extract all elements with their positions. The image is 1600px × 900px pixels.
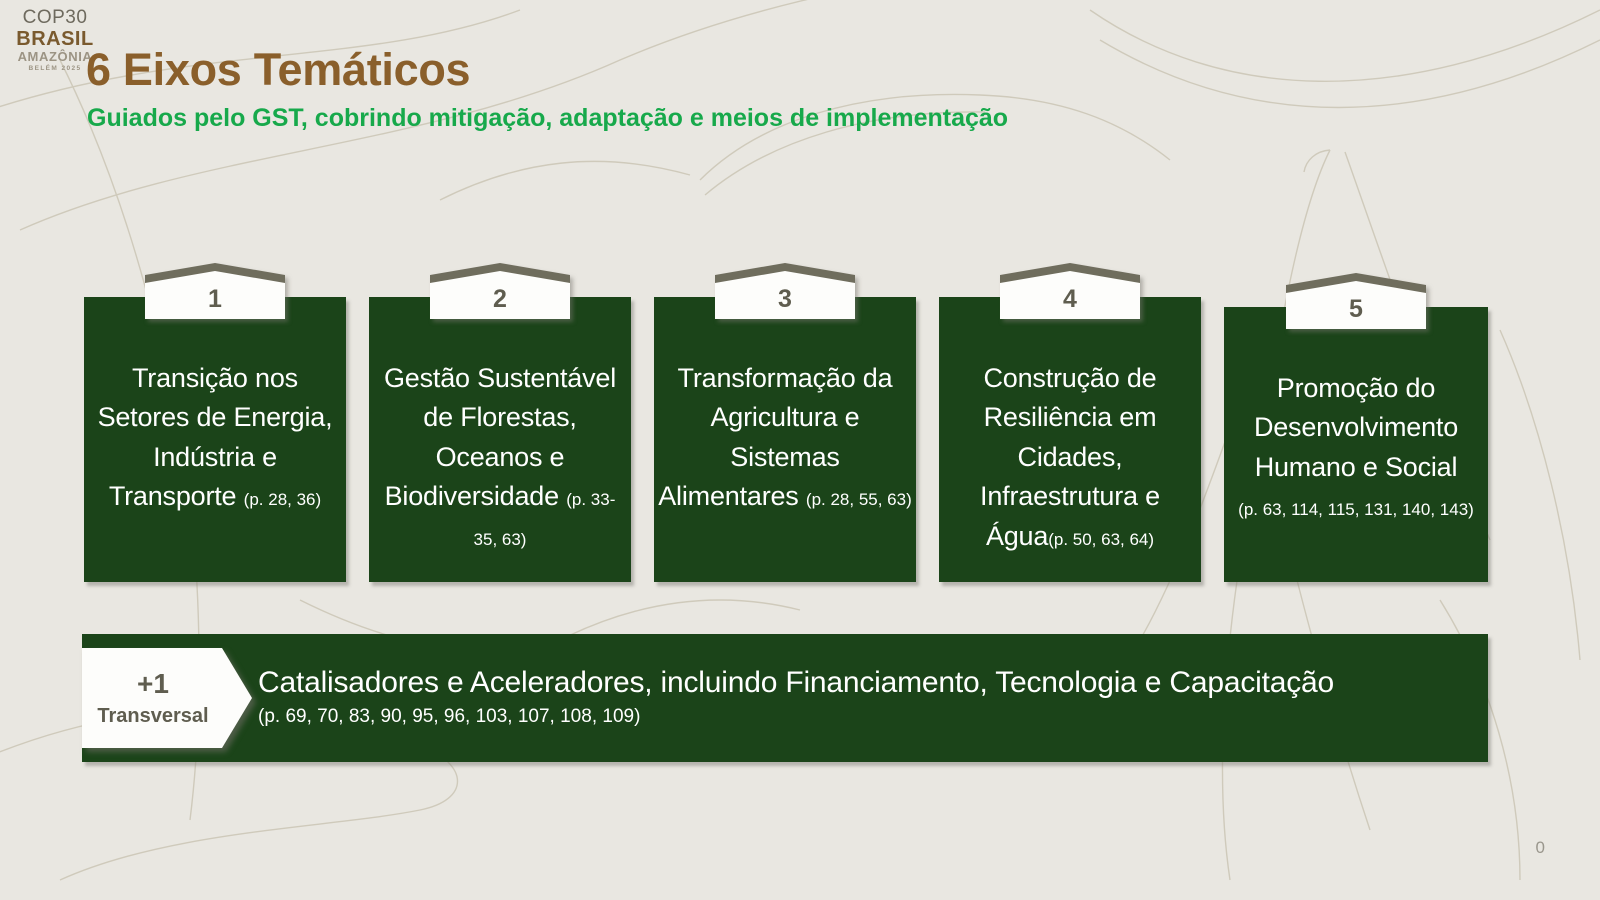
pillar-title: Transição nos Setores de Energia, Indúst… — [98, 363, 333, 511]
pillar-number: 1 — [145, 287, 285, 312]
pillar-text: Gestão Sustentável de Florestas, Oceanos… — [373, 359, 627, 556]
pillar-number-badge: 3 — [715, 263, 855, 319]
pillar-pages: (p. 50, 63, 64) — [1048, 530, 1154, 549]
page-number: 0 — [1536, 838, 1545, 858]
pillar-number: 3 — [715, 287, 855, 312]
transversal-pages: (p. 69, 70, 83, 90, 95, 96, 103, 107, 10… — [258, 704, 1472, 731]
pillar-pages: (p. 28, 55, 63) — [806, 490, 912, 509]
pillar-text: Transformação da Agricultura e Sistemas … — [658, 359, 912, 517]
transversal-tag-label: Transversal — [82, 706, 224, 726]
pillar-title: Transformação da Agricultura e Sistemas … — [658, 363, 892, 511]
pillar-pages: (p. 28, 36) — [244, 490, 322, 509]
pillar-card-2[interactable]: 2 Gestão Sustentável de Florestas, Ocean… — [369, 297, 631, 582]
pillar-text: Promoção do Desenvolvimento Humano e Soc… — [1228, 369, 1484, 527]
pillar-number-badge: 5 — [1286, 273, 1426, 329]
pillar-title: Construção de Resiliência em Cidades, In… — [980, 363, 1160, 551]
pillar-number: 5 — [1286, 297, 1426, 322]
pillar-card-5[interactable]: 5 Promoção do Desenvolvimento Humano e S… — [1224, 307, 1488, 582]
pillar-title: Gestão Sustentável de Florestas, Oceanos… — [384, 363, 616, 511]
pillar-text: Construção de Resiliência em Cidades, In… — [943, 359, 1197, 556]
pillar-card-3[interactable]: 3 Transformação da Agricultura e Sistema… — [654, 297, 916, 582]
pillar-card-4[interactable]: 4 Construção de Resiliência em Cidades, … — [939, 297, 1201, 582]
pillar-card-1[interactable]: 1 Transição nos Setores de Energia, Indú… — [84, 297, 346, 582]
pillar-number: 2 — [430, 287, 570, 312]
transversal-title: Catalisadores e Aceleradores, incluindo … — [258, 666, 1472, 701]
pillar-number-badge: 1 — [145, 263, 285, 319]
slide-canvas: COP30 BRASIL AMAZÔNIA BELÉM 2025 6 Eixos… — [0, 0, 1600, 900]
transversal-text: Catalisadores e Aceleradores, incluindo … — [258, 666, 1472, 730]
pillar-title: Promoção do Desenvolvimento Humano e Soc… — [1254, 373, 1458, 482]
transversal-tag: +1 Transversal — [82, 648, 252, 748]
pillars-row: 1 Transição nos Setores de Energia, Indú… — [0, 0, 1600, 900]
pillar-number-badge: 4 — [1000, 263, 1140, 319]
pillar-number: 4 — [1000, 287, 1140, 312]
transversal-plus-label: +1 — [82, 670, 224, 698]
pillar-number-badge: 2 — [430, 263, 570, 319]
transversal-bar[interactable]: +1 Transversal Catalisadores e Acelerado… — [82, 634, 1488, 762]
pillar-pages: (p. 63, 114, 115, 131, 140, 143) — [1238, 500, 1474, 519]
pillar-text: Transição nos Setores de Energia, Indúst… — [88, 359, 342, 517]
